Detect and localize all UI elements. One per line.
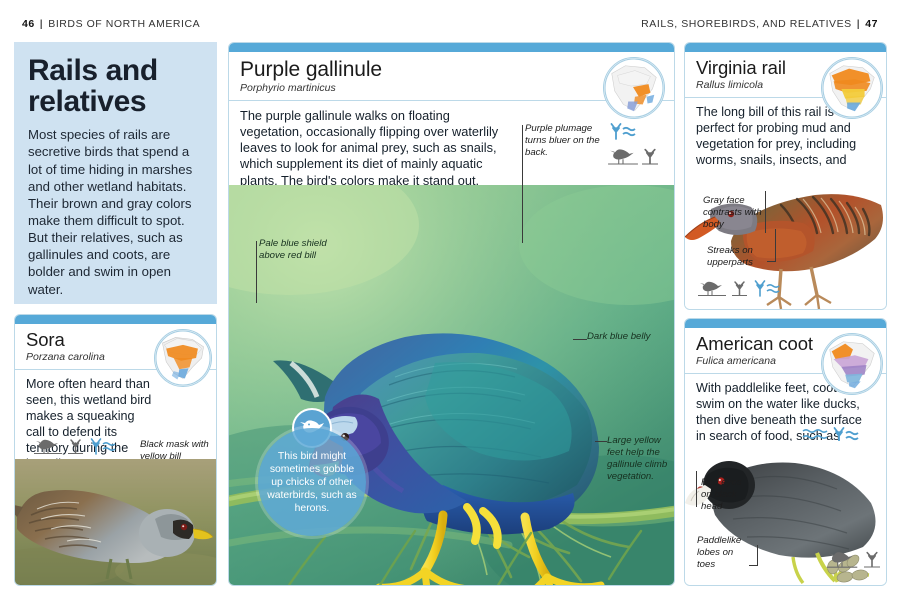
leader-line-gallinule-belly [573,339,587,340]
callout-text: Large yellow feet help the gallinule cli… [607,435,667,482]
runhead-separator-right: | [852,18,866,30]
runhead-separator-left: | [35,18,49,30]
leader-line-virginia-face [765,191,766,233]
habitat-icon-strip-sora [33,435,122,457]
habitat-icon-strip-virginia [697,277,786,299]
card-accent-bar [15,315,216,324]
range-map-sora [154,329,212,387]
marsh-grass-icon [68,435,83,457]
species-scientific-name: Porphyrio martinicus [240,82,664,94]
chapter-title-right: RAILS, SHOREBIRDS, AND RELATIVES [641,18,852,30]
fun-fact-text: This bird might sometimes gobble up chic… [258,450,366,515]
fun-fact-bubble: This bird might sometimes gobble up chic… [258,428,366,536]
leader-line-gallinule-shield [256,241,257,303]
card-accent-bar [229,43,674,52]
wading-bird-icon [33,435,63,457]
range-map-graphic [822,334,882,394]
leader-line-gallinule-feet [595,441,607,442]
species-card-virginia-rail: Virginia rail Rallus limicola The long b… [684,42,887,310]
range-map-graphic [155,330,211,386]
leader-line-coot-lobes [757,545,758,565]
book-title-left: BIRDS OF NORTH AMERICA [48,18,200,30]
page-number-left: 46 [22,18,35,30]
marsh-grass-icon [864,547,880,571]
shallow-water-icon [88,435,122,457]
range-map-american-coot [821,333,883,395]
callout-coot-lobes: Paddlelike lobes on toes [697,535,753,571]
range-map-purple-gallinule [603,57,665,119]
range-map-virginia-rail [821,57,883,119]
callout-text: Pale blue shield above red bill [259,238,327,261]
callout-text: Dark blue belly [587,331,650,342]
callout-coot-eyes: Red eyes on black head [701,477,749,513]
callout-text: Streaks on upperparts [707,245,753,268]
leader-line-coot-lobes-h [749,565,758,566]
running-head-right: RAILS, SHOREBIRDS, AND RELATIVES|47 [641,18,878,30]
callout-gallinule-belly: Dark blue belly [587,331,673,343]
callout-gallinule-shield: Pale blue shield above red bill [259,238,351,262]
chapter-title-line1: Rails and [28,54,158,87]
species-card-american-coot: American coot Fulica americana With padd… [684,318,887,586]
leader-line-virginia-streaks-h [767,261,776,262]
marsh-grass-icon [642,144,658,168]
marsh-grass-icon [732,277,747,299]
card-accent-bar [685,43,886,52]
wading-bird-icon [697,277,727,299]
shallow-water-icon [752,277,786,299]
page-number-right: 47 [865,18,878,30]
range-map-graphic [604,58,664,118]
leader-line-coot-eyes [696,471,697,507]
species-photo-sora [15,459,217,586]
leader-line-virginia-streaks [775,229,776,261]
spread-page: 46|BIRDS OF NORTH AMERICA RAILS, SHOREBI… [0,0,900,600]
callout-text: Purple plumage turns bluer on the back. [525,123,600,158]
callout-gallinule-feet: Large yellow feet help the gallinule cli… [607,435,671,483]
running-head-left: 46|BIRDS OF NORTH AMERICA [22,18,200,30]
leader-line-gallinule-plumage [522,125,523,243]
chapter-intro-text: Most species of rails are secretive bird… [28,126,201,298]
callout-text: Paddlelike lobes on toes [697,535,741,570]
chapter-title: Rails and relatives [28,56,201,117]
callout-text: Red eyes on black head [701,477,742,512]
callout-virginia-streaks: Streaks on upperparts [707,245,773,269]
shore-bird-icon [825,547,859,571]
species-name: Purple gallinule [240,58,664,81]
range-map-graphic [822,58,882,118]
callout-text: Gray face contrasts with body [703,195,762,230]
callout-gallinule-plumage: Purple plumage turns bluer on the back. [525,123,615,159]
callout-virginia-face: Gray face contrasts with body [703,195,765,231]
species-card-sora: Sora Porzana carolina More often heard t… [14,314,217,586]
species-description: The purple gallinule walks on floating v… [229,101,519,193]
sora-photo-graphic [15,459,217,586]
habitat-icon-strip-coot-bottom [825,547,880,571]
chapter-title-line2: relatives [28,85,146,118]
card-accent-bar [685,319,886,328]
chapter-intro-panel: Rails and relatives Most species of rail… [14,42,217,304]
